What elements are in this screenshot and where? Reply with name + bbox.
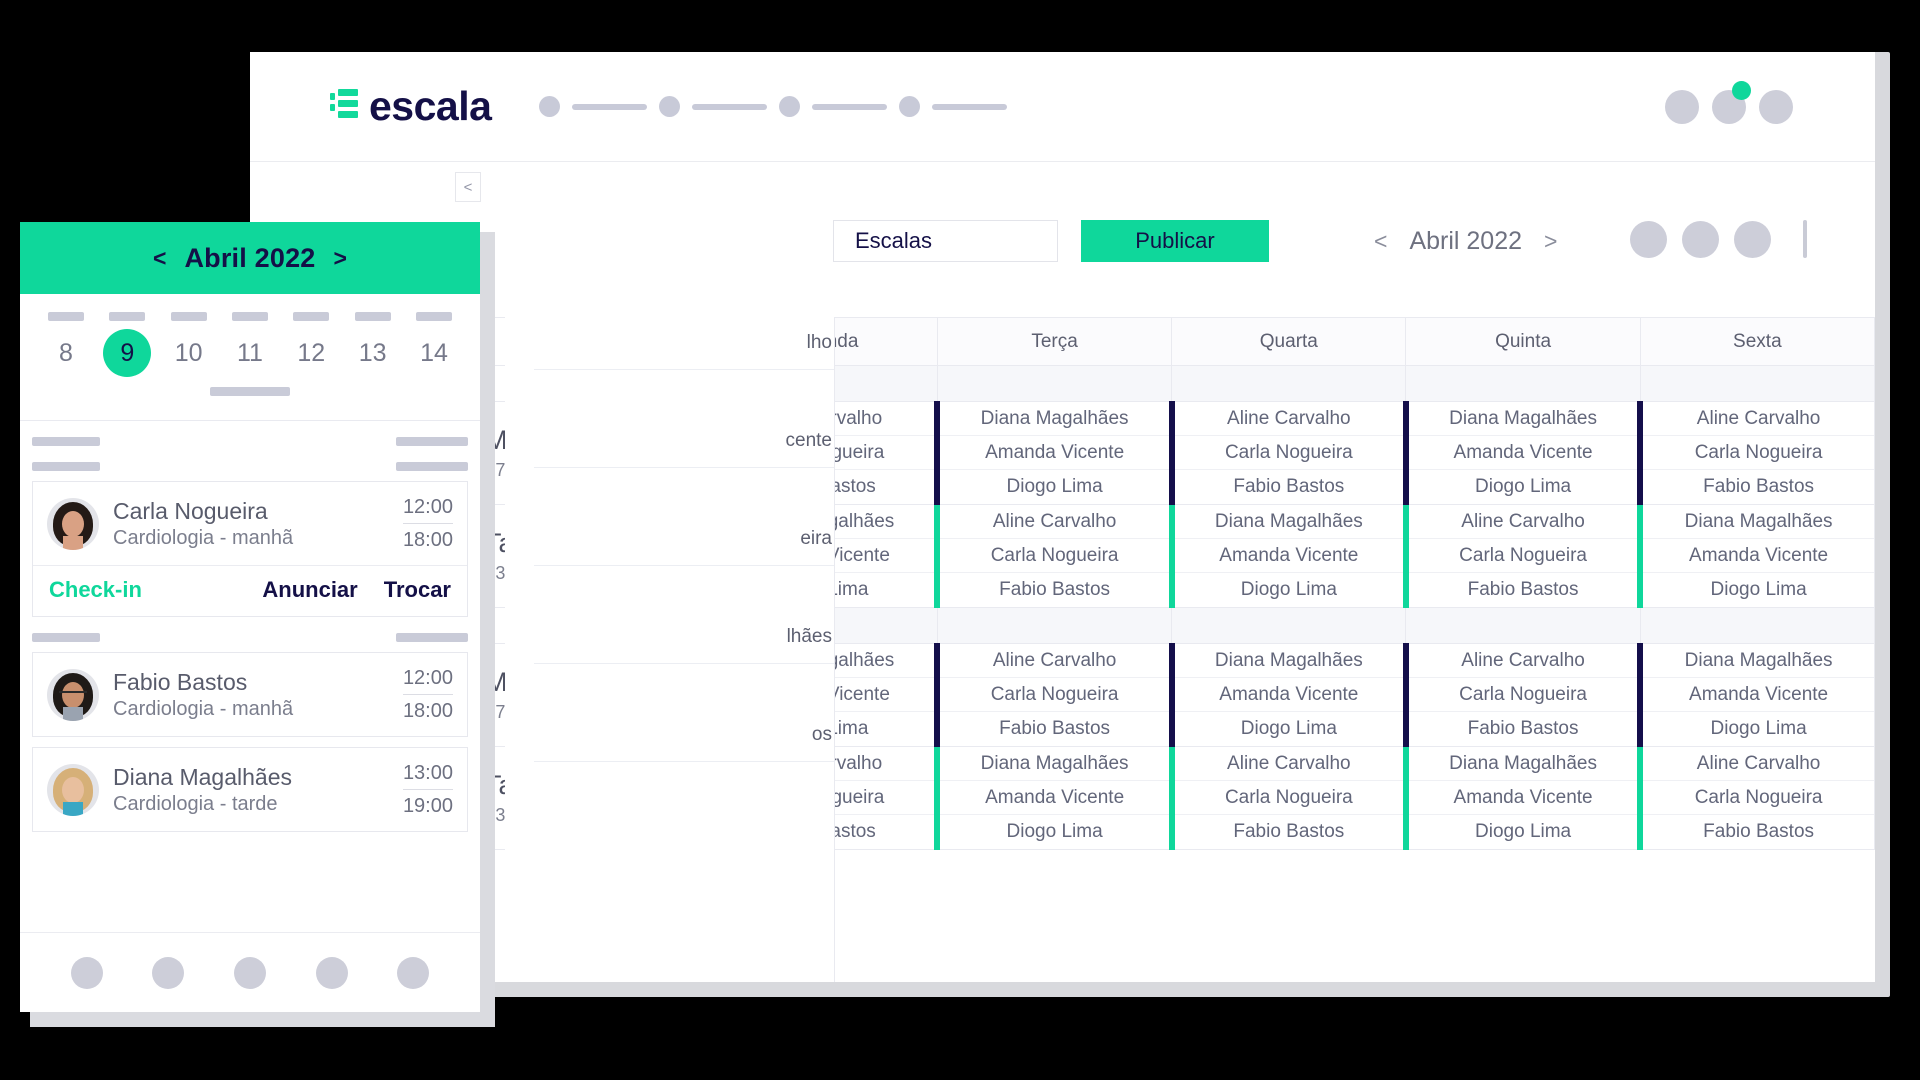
assignment-name[interactable]: Diogo Lima — [1643, 712, 1874, 746]
bottom-nav-icon-2[interactable] — [152, 957, 184, 989]
assignment-name[interactable]: Fabio Bastos — [1643, 470, 1874, 504]
prev-month-button[interactable]: < — [1374, 228, 1387, 255]
assignment-name[interactable]: Carla Nogueira — [1643, 781, 1874, 815]
avatar-glasses-icon — [59, 691, 87, 697]
header-avatar-3[interactable] — [1759, 90, 1793, 124]
header-nav-steps — [539, 96, 1019, 117]
mobile-day-9[interactable]: 9 — [103, 329, 151, 377]
shift-card-times: 12:0018:00 — [393, 665, 453, 724]
schedule-cell[interactable]: Diana MagalhãesAmanda VicenteDiogo Lima — [1172, 644, 1406, 747]
weekday-placeholder-bar — [109, 312, 145, 321]
assignment-name[interactable]: Aline Carvalho — [1409, 644, 1637, 678]
assignment-name[interactable]: Fabio Bastos — [940, 573, 1168, 607]
shift-end-time: 19:00 — [403, 793, 453, 819]
assignment-name[interactable]: Diogo Lima — [1643, 573, 1874, 607]
shift-card-text: Diana MagalhãesCardiologia - tarde — [113, 763, 393, 817]
nav-placeholder-bar — [692, 104, 767, 110]
bottom-nav-icon-5[interactable] — [397, 957, 429, 989]
sidebar-divider — [534, 467, 834, 468]
app-logo[interactable]: escala — [330, 86, 491, 127]
day-header-terca[interactable]: Terça — [937, 318, 1171, 366]
toolbar-icon-3[interactable] — [1734, 221, 1771, 258]
mobile-shift-card[interactable]: Diana MagalhãesCardiologia - tarde13:001… — [32, 747, 468, 832]
shift-end-time: 18:00 — [403, 698, 453, 724]
spacer-day-cell — [1640, 608, 1874, 644]
shift-card-main: Carla NogueiraCardiologia - manhã12:0018… — [33, 482, 467, 565]
spacer-day-cell — [1172, 366, 1406, 402]
trocar-button[interactable]: Trocar — [384, 577, 451, 603]
weekday-placeholder-bar — [416, 312, 452, 321]
assignment-name[interactable]: Fabio Bastos — [1175, 815, 1403, 849]
weekday-placeholder-bar — [355, 312, 391, 321]
header-avatar-2[interactable] — [1712, 90, 1746, 124]
day-header-quarta[interactable]: Quarta — [1172, 318, 1406, 366]
nav-dot-icon — [779, 96, 800, 117]
schedule-cell[interactable]: Aline CarvalhoCarla NogueiraFabio Bastos — [937, 644, 1171, 747]
avatar-face — [62, 511, 84, 537]
day-header-quinta[interactable]: Quinta — [1406, 318, 1640, 366]
mobile-shift-card[interactable]: Fabio BastosCardiologia - manhã12:0018:0… — [32, 652, 468, 737]
time-divider — [403, 523, 453, 524]
nav-dot-icon — [659, 96, 680, 117]
bottom-nav-icon-3[interactable] — [234, 957, 266, 989]
bottom-nav-icon-1[interactable] — [71, 957, 103, 989]
assignment-name[interactable]: Diana Magalhães — [1175, 644, 1403, 678]
current-month-label: Abril 2022 — [1409, 227, 1522, 256]
employee-role: Cardiologia - tarde — [113, 793, 393, 816]
assignment-name[interactable]: Carla Nogueira — [1643, 436, 1874, 470]
schedule-cell[interactable]: Aline CarvalhoCarla NogueiraFabio Bastos — [1172, 402, 1406, 505]
schedule-cell[interactable]: Diana MagalhãesAmanda VicenteDiogo Lima — [1640, 644, 1874, 747]
mobile-week-strip: 891011121314 — [20, 294, 480, 404]
assignment-name[interactable]: Aline Carvalho — [940, 505, 1168, 539]
shift-card-times: 12:0018:00 — [393, 494, 453, 553]
placeholder-bar-right — [396, 462, 468, 471]
notification-badge-icon — [1732, 81, 1751, 100]
shift-card-text: Fabio BastosCardiologia - manhã — [113, 668, 393, 722]
schedule-cell[interactable]: Diana MagalhãesAmanda VicenteDiogo Lima — [1172, 505, 1406, 608]
escalas-select[interactable]: Escalas — [833, 220, 1058, 262]
schedule-cell[interactable]: Diana MagalhãesAmanda VicenteDiogo Lima — [1640, 505, 1874, 608]
nav-placeholder-bar — [932, 104, 1007, 110]
assignment-name[interactable]: Aline Carvalho — [1643, 747, 1874, 781]
shift-card-actions: Check-inAnunciarTrocar — [33, 565, 467, 616]
schedule-cell[interactable]: Diana MagalhãesAmanda VicenteDiogo Lima — [937, 402, 1171, 505]
assignment-name[interactable]: Carla Nogueira — [1409, 539, 1637, 573]
shift-card-main: Fabio BastosCardiologia - manhã12:0018:0… — [33, 653, 467, 736]
mobile-day-12[interactable]: 12 — [287, 329, 335, 377]
assignment-name[interactable]: Diogo Lima — [1175, 712, 1403, 746]
spacer-day-cell — [1406, 366, 1640, 402]
nav-placeholder-bar — [572, 104, 647, 110]
assignment-name[interactable]: Aline Carvalho — [1175, 747, 1403, 781]
assignment-name[interactable]: Amanda Vicente — [1409, 436, 1637, 470]
mobile-day-10[interactable]: 10 — [165, 329, 213, 377]
schedule-cell[interactable]: Aline CarvalhoCarla NogueiraFabio Bastos — [1640, 747, 1874, 850]
schedule-cell[interactable]: Aline CarvalhoCarla NogueiraFabio Bastos — [1640, 402, 1874, 505]
toolbar-action-icons — [1615, 220, 1807, 258]
assignment-name[interactable]: Amanda Vicente — [940, 436, 1168, 470]
assignment-name[interactable]: Carla Nogueira — [940, 678, 1168, 712]
avatar-body — [63, 536, 83, 550]
nav-step-2[interactable] — [659, 96, 779, 117]
publicar-button[interactable]: Publicar — [1081, 220, 1269, 262]
day-header-sexta[interactable]: Sexta — [1640, 318, 1874, 366]
assignment-name[interactable]: Amanda Vicente — [1643, 678, 1874, 712]
employee-name: Fabio Bastos — [113, 668, 393, 697]
employee-role: Cardiologia - manhã — [113, 527, 393, 550]
spacer-day-cell — [937, 608, 1171, 644]
employee-name: Diana Magalhães — [113, 763, 393, 792]
assignment-name[interactable]: Fabio Bastos — [940, 712, 1168, 746]
assignment-name[interactable]: Fabio Bastos — [1409, 712, 1637, 746]
mobile-next-month-button[interactable]: > — [334, 245, 347, 272]
assignment-name[interactable]: Amanda Vicente — [1175, 678, 1403, 712]
schedule-cell[interactable]: Diana MagalhãesAmanda VicenteDiogo Lima — [1406, 747, 1640, 850]
employee-name: Carla Nogueira — [113, 497, 393, 526]
sidebar-name-1[interactable]: lho — [534, 332, 834, 354]
employee-role: Cardiologia - manhã — [113, 698, 393, 721]
shift-card-times: 13:0019:00 — [393, 760, 453, 819]
assignment-name[interactable]: Diana Magalhães — [1409, 402, 1637, 436]
spacer-day-cell — [1172, 608, 1406, 644]
assignment-name[interactable]: Carla Nogueira — [1175, 781, 1403, 815]
assignment-name[interactable]: Fabio Bastos — [1175, 470, 1403, 504]
placeholder-bar-right — [396, 633, 468, 642]
header-avatar-1[interactable] — [1665, 90, 1699, 124]
mobile-day-11[interactable]: 11 — [226, 329, 274, 377]
logo-wordmark: escala — [369, 86, 491, 127]
placeholder-bar-left — [32, 633, 100, 642]
escala-logo-icon — [330, 89, 358, 125]
assignment-name[interactable]: Diana Magalhães — [1643, 644, 1874, 678]
shift-end-time: 18:00 — [403, 527, 453, 553]
nav-dot-icon — [539, 96, 560, 117]
schedule-cell[interactable]: Aline CarvalhoCarla NogueiraFabio Bastos — [1406, 505, 1640, 608]
mobile-month-label: Abril 2022 — [184, 243, 315, 274]
schedule-cell[interactable]: Aline CarvalhoCarla NogueiraFabio Bastos — [1172, 747, 1406, 850]
mobile-day-picker: 891011121314 — [34, 321, 466, 377]
assignment-name[interactable]: Diana Magalhães — [940, 747, 1168, 781]
weekday-placeholder-bar — [232, 312, 268, 321]
secondary-actions: AnunciarTrocar — [262, 577, 451, 603]
sidebar-name-2[interactable]: cente — [534, 430, 834, 452]
assignment-name[interactable]: Diana Magalhães — [1643, 505, 1874, 539]
assignment-name[interactable]: Amanda Vicente — [1643, 539, 1874, 573]
placeholder-bar-left — [32, 462, 100, 471]
assignment-name[interactable]: Amanda Vicente — [1175, 539, 1403, 573]
time-divider — [403, 789, 453, 790]
placeholder-bar-left — [32, 437, 100, 446]
mobile-weekday-placeholders — [34, 312, 466, 321]
mobile-section-placeholder-row-3 — [20, 617, 480, 642]
shift-start-time: 12:00 — [403, 665, 453, 691]
nav-step-3[interactable] — [779, 96, 899, 117]
shift-start-time: 12:00 — [403, 494, 453, 520]
assignment-name[interactable]: Diana Magalhães — [940, 402, 1168, 436]
bottom-nav-icon-4[interactable] — [316, 957, 348, 989]
assignment-name[interactable]: Diogo Lima — [1175, 573, 1403, 607]
assignment-name[interactable]: Diana Magalhães — [1409, 747, 1637, 781]
assignment-name[interactable]: Diogo Lima — [1409, 815, 1637, 849]
screenshot-stage: escala < Escalas Publicar < — [0, 0, 1920, 1080]
mobile-shift-card-list: Carla NogueiraCardiologia - manhã12:0018… — [20, 481, 480, 832]
nav-dot-icon — [899, 96, 920, 117]
nav-step-4[interactable] — [899, 96, 1019, 117]
schedule-cell[interactable]: Aline CarvalhoCarla NogueiraFabio Bastos — [1406, 644, 1640, 747]
next-month-button[interactable]: > — [1544, 228, 1557, 255]
weekday-placeholder-bar — [171, 312, 207, 321]
spacer-day-cell — [1406, 608, 1640, 644]
assignment-name[interactable]: Carla Nogueira — [940, 539, 1168, 573]
shift-card-text: Carla NogueiraCardiologia - manhã — [113, 497, 393, 551]
assignment-name[interactable]: Amanda Vicente — [1409, 781, 1637, 815]
check-in-button[interactable]: Check-in — [49, 577, 142, 603]
shift-start-time: 13:00 — [403, 760, 453, 786]
assignment-name[interactable]: Fabio Bastos — [1643, 815, 1874, 849]
anunciar-button[interactable]: Anunciar — [262, 577, 357, 603]
mobile-selected-day-underline — [210, 387, 290, 396]
toolbar-icon-2[interactable] — [1682, 221, 1719, 258]
avatar — [47, 764, 99, 816]
assignment-name[interactable]: Aline Carvalho — [1175, 402, 1403, 436]
avatar — [47, 498, 99, 550]
assignment-name[interactable]: Diogo Lima — [940, 470, 1168, 504]
assignment-name[interactable]: Carla Nogueira — [1409, 678, 1637, 712]
toolbar-icon-1[interactable] — [1630, 221, 1667, 258]
assignment-name[interactable]: Aline Carvalho — [940, 644, 1168, 678]
employee-sidebar: lho cente eira lhães os — [505, 317, 835, 982]
nav-step-1[interactable] — [539, 96, 659, 117]
sidebar-divider — [534, 565, 834, 566]
sidebar-name-5[interactable]: os — [534, 724, 834, 746]
assignment-name[interactable]: Diana Magalhães — [1175, 505, 1403, 539]
sidebar-divider — [534, 761, 834, 762]
assignment-name[interactable]: Fabio Bastos — [1409, 573, 1637, 607]
avatar — [47, 669, 99, 721]
weekday-placeholder-bar — [293, 312, 329, 321]
sidebar-divider — [534, 369, 834, 370]
sidebar-name-4[interactable]: lhães — [534, 626, 834, 648]
assignment-name[interactable]: Amanda Vicente — [940, 781, 1168, 815]
assignment-name[interactable]: Diogo Lima — [1409, 470, 1637, 504]
assignment-name[interactable]: Carla Nogueira — [1175, 436, 1403, 470]
month-navigator: < Abril 2022 > — [1374, 227, 1557, 256]
assignment-name[interactable]: Diogo Lima — [940, 815, 1168, 849]
schedule-cell[interactable]: Diana MagalhãesAmanda VicenteDiogo Lima — [937, 747, 1171, 850]
mobile-day-13[interactable]: 13 — [349, 329, 397, 377]
avatar-body — [63, 707, 83, 721]
avatar-face — [62, 777, 84, 803]
placeholder-bar-right — [396, 437, 468, 446]
schedule-cell[interactable]: Diana MagalhãesAmanda VicenteDiogo Lima — [1406, 402, 1640, 505]
schedule-cell[interactable]: Aline CarvalhoCarla NogueiraFabio Bastos — [937, 505, 1171, 608]
mobile-section-placeholder-row-1 — [20, 421, 480, 446]
mobile-day-8[interactable]: 8 — [42, 329, 90, 377]
assignment-name[interactable]: Aline Carvalho — [1643, 402, 1874, 436]
nav-placeholder-bar — [812, 104, 887, 110]
assignment-name[interactable]: Aline Carvalho — [1409, 505, 1637, 539]
shift-card-main: Diana MagalhãesCardiologia - tarde13:001… — [33, 748, 467, 831]
mobile-app-card: < Abril 2022 > 891011121314 — [20, 222, 480, 1012]
mobile-shift-card[interactable]: Carla NogueiraCardiologia - manhã12:0018… — [32, 481, 468, 617]
mobile-bottom-nav — [20, 932, 480, 1012]
spacer-day-cell — [1640, 366, 1874, 402]
mobile-prev-month-button[interactable]: < — [153, 245, 166, 272]
sidebar-name-3[interactable]: eira — [534, 528, 834, 550]
sidebar-divider — [534, 663, 834, 664]
avatar-body — [63, 802, 83, 816]
toolbar-divider — [1803, 220, 1807, 258]
app-header: escala — [250, 52, 1875, 162]
mobile-month-header: < Abril 2022 > — [20, 222, 480, 294]
mobile-section-placeholder-row-2 — [20, 446, 480, 471]
weekday-placeholder-bar — [48, 312, 84, 321]
spacer-day-cell — [937, 366, 1171, 402]
mobile-day-14[interactable]: 14 — [410, 329, 458, 377]
header-avatar-group — [1652, 90, 1793, 124]
sidebar-collapse-button[interactable]: < — [455, 172, 481, 202]
time-divider — [403, 694, 453, 695]
